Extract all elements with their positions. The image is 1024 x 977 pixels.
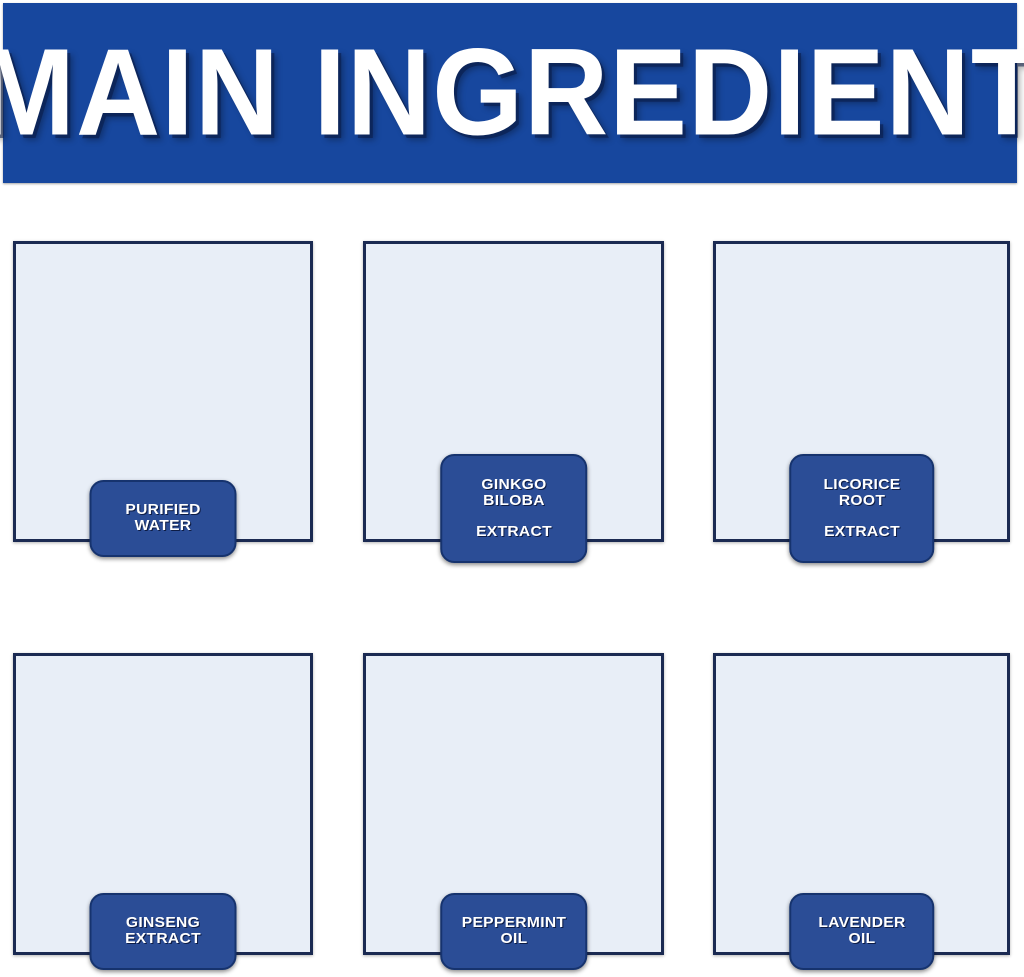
ingredient-infographic: MAIN INGREDIENT PURIFIED WATER GINKGO BI… <box>0 0 1024 977</box>
ingredient-label-peppermint-oil: PEPPERMINT OIL <box>440 893 588 970</box>
page-title: MAIN INGREDIENT <box>0 31 1024 154</box>
ingredient-label-line-2: EXTRACT <box>805 524 919 540</box>
ingredient-label-line-1: LICORICE ROOT <box>805 477 919 508</box>
ingredient-label-ginkgo-biloba-extract: GINKGO BILOBA EXTRACT <box>440 454 588 563</box>
ingredient-label-line-1: GINKGO BILOBA <box>456 477 572 508</box>
ingredient-card-licorice-root-extract[interactable]: LICORICE ROOT EXTRACT <box>713 241 1010 542</box>
ingredient-card-ginseng-extract[interactable]: GINSENG EXTRACT <box>13 653 313 955</box>
ingredient-card-purified-water[interactable]: PURIFIED WATER <box>13 241 313 542</box>
ingredient-label-lavender-oil: LAVENDER OIL <box>789 893 935 970</box>
header-banner: MAIN INGREDIENT <box>3 3 1017 183</box>
ingredient-card-peppermint-oil[interactable]: PEPPERMINT OIL <box>363 653 664 955</box>
ingredient-label-ginseng-extract: GINSENG EXTRACT <box>90 893 237 970</box>
ingredient-label-line-2: EXTRACT <box>456 524 572 540</box>
ingredient-card-ginkgo-biloba-extract[interactable]: GINKGO BILOBA EXTRACT <box>363 241 664 542</box>
ingredient-label-licorice-root-extract: LICORICE ROOT EXTRACT <box>789 454 935 563</box>
ingredient-label-purified-water: PURIFIED WATER <box>90 480 237 557</box>
ingredient-label-line-1: PURIFIED WATER <box>105 502 220 533</box>
ingredient-card-lavender-oil[interactable]: LAVENDER OIL <box>713 653 1010 955</box>
ingredient-label-line-1: PEPPERMINT OIL <box>456 915 572 946</box>
ingredient-label-line-1: LAVENDER OIL <box>805 915 919 946</box>
ingredient-label-line-1: GINSENG EXTRACT <box>105 915 220 946</box>
